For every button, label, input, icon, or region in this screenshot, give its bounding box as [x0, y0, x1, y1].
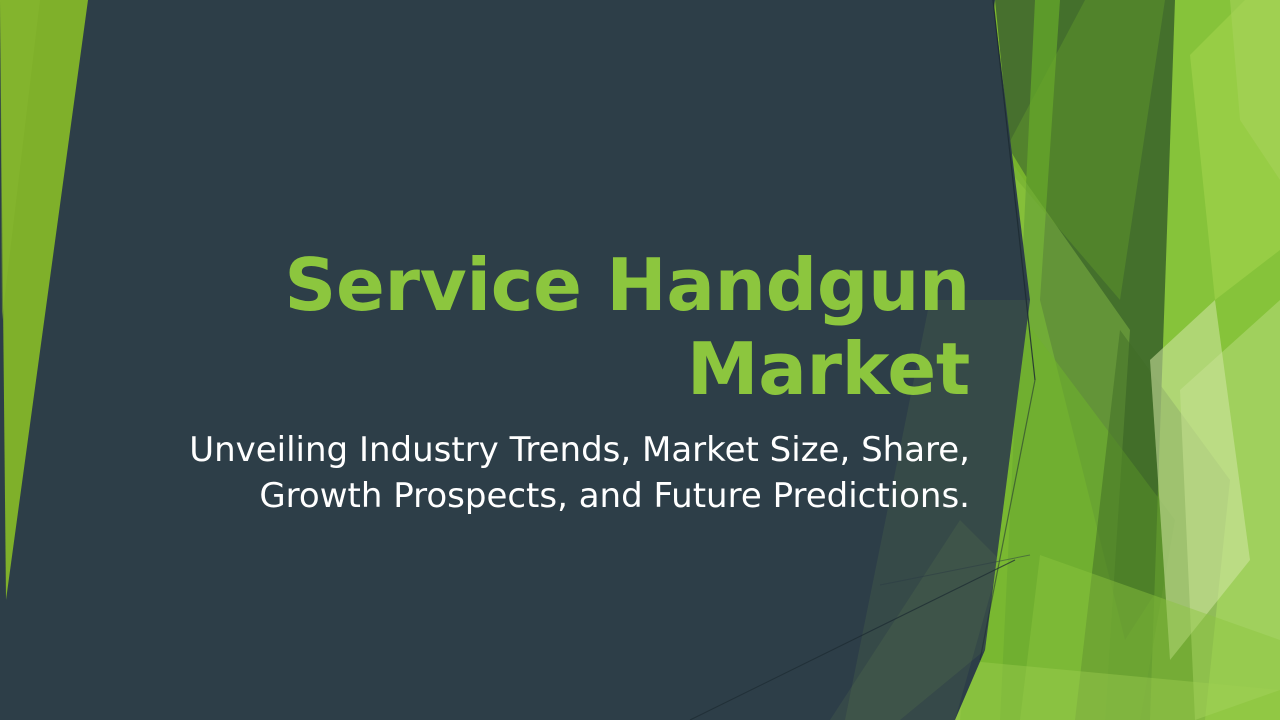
title-slide: Service Handgun Market Unveiling Industr… [0, 0, 1280, 720]
subtitle-block: Unveiling Industry Trends, Market Size, … [150, 428, 970, 519]
title-block: Service Handgun Market [150, 243, 970, 411]
page-title: Service Handgun Market [150, 243, 970, 411]
slide-subtitle: Unveiling Industry Trends, Market Size, … [150, 428, 970, 519]
